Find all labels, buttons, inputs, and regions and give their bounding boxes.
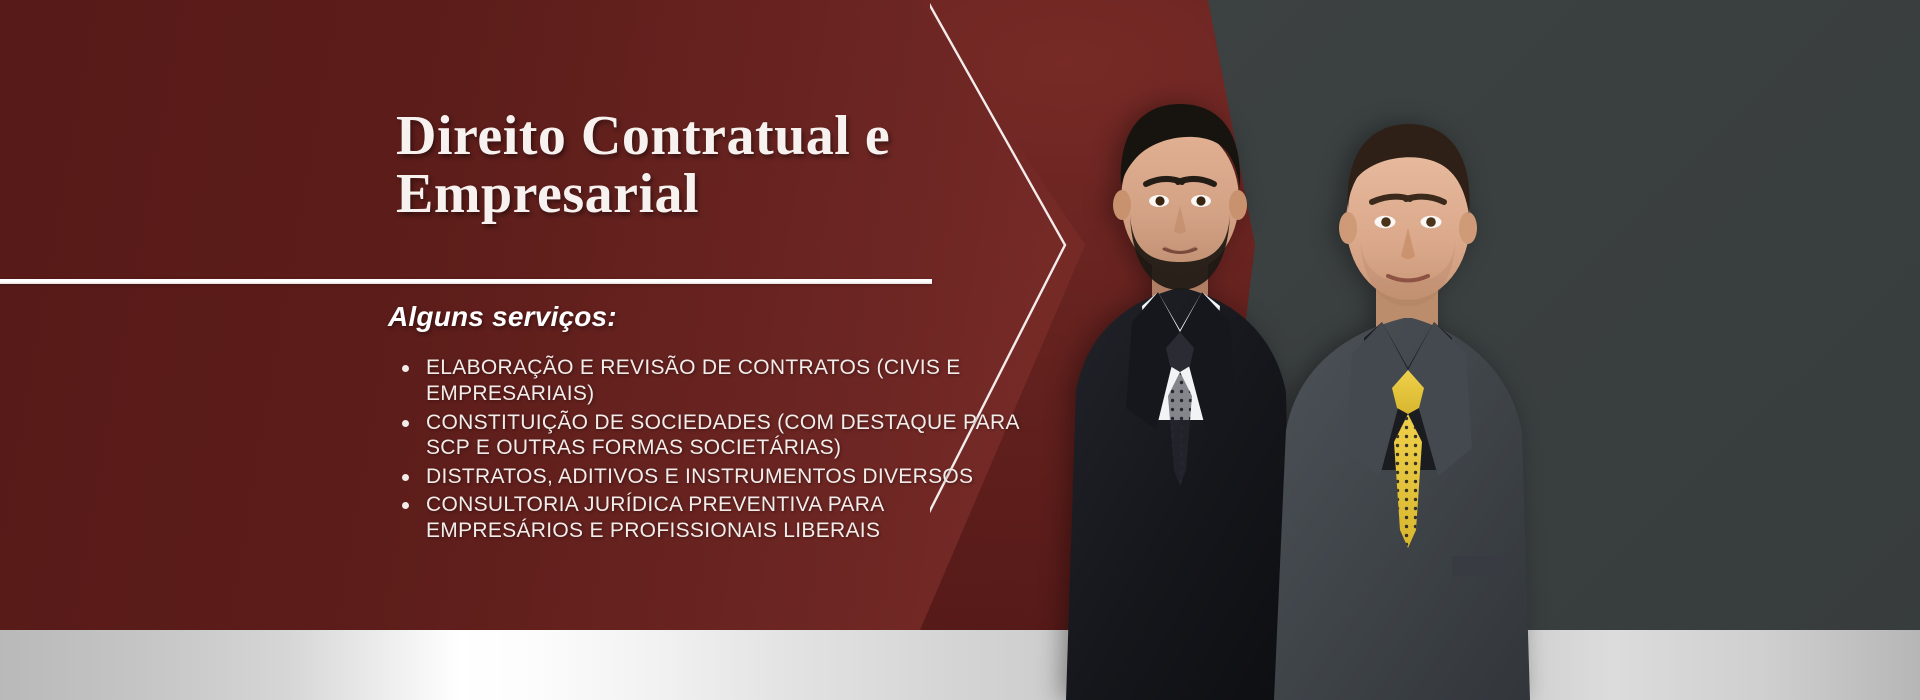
- person-right: [1274, 124, 1530, 700]
- list-item: CONSTITUIÇÃO DE SOCIEDADES (COM DESTAQUE…: [396, 410, 1036, 461]
- services-list: ELABORAÇÃO E REVISÃO DE CONTRATOS (CIVIS…: [396, 355, 1116, 543]
- list-item: ELABORAÇÃO E REVISÃO DE CONTRATOS (CIVIS…: [396, 355, 1036, 406]
- banner-content: Direito Contratual e Empresarial Alguns …: [396, 108, 1116, 547]
- services-subtitle: Alguns serviços:: [388, 301, 1116, 333]
- lawyers-photo: [1060, 0, 1620, 700]
- person-left: [1066, 104, 1292, 700]
- list-item: DISTRATOS, ADITIVOS E INSTRUMENTOS DIVER…: [396, 464, 1036, 490]
- page-title: Direito Contratual e Empresarial: [396, 108, 896, 223]
- bottom-silver-strip: [0, 630, 1920, 700]
- hero-banner: Direito Contratual e Empresarial Alguns …: [0, 0, 1920, 700]
- list-item: CONSULTORIA JURÍDICA PREVENTIVA PARA EMP…: [396, 492, 1036, 543]
